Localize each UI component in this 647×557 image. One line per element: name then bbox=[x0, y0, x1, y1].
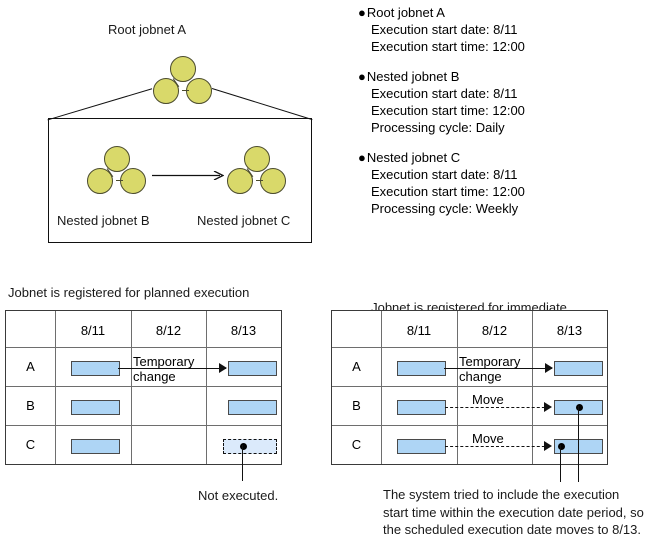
planned-execution-table: 8/11 8/12 8/13 A B C Temporary change bbox=[5, 310, 282, 465]
legend-group-nested-c: ● Nested jobnet C Execution start date: … bbox=[358, 149, 643, 217]
arrow-head-icon bbox=[219, 363, 227, 373]
nested-jobnet-b-cluster bbox=[86, 146, 148, 198]
legend-detail: Execution start time: 12:00 bbox=[358, 102, 643, 119]
row-label-b: B bbox=[6, 398, 55, 413]
column-header-date: 8/13 bbox=[206, 323, 281, 338]
expansion-line-left bbox=[48, 88, 152, 120]
move-line bbox=[445, 446, 550, 447]
schedule-bar bbox=[228, 400, 277, 415]
table-row-divider bbox=[332, 386, 607, 387]
table-row-divider bbox=[6, 347, 281, 348]
execution-point-leader-line-b bbox=[578, 406, 579, 482]
table-row-divider bbox=[332, 425, 607, 426]
column-header-date: 8/11 bbox=[55, 323, 131, 338]
schedule-bar bbox=[554, 361, 603, 376]
arrow-head-icon bbox=[545, 363, 553, 373]
execution-point-leader-line-c bbox=[560, 445, 561, 482]
scheduled-date-move-annotation: The system tried to include the executio… bbox=[383, 486, 647, 539]
arrow-head-icon bbox=[544, 441, 552, 451]
column-header-date: 8/11 bbox=[381, 323, 457, 338]
schedule-bar bbox=[71, 400, 120, 415]
table-row-divider bbox=[6, 386, 281, 387]
jobnet-node-circle bbox=[120, 168, 146, 194]
legend-detail: Processing cycle: Weekly bbox=[358, 200, 643, 217]
arrow-head-icon bbox=[544, 402, 552, 412]
node-connector bbox=[182, 90, 189, 91]
legend-group-nested-b: ● Nested jobnet B Execution start date: … bbox=[358, 68, 643, 136]
column-header-date: 8/12 bbox=[457, 323, 532, 338]
row-label-c: C bbox=[6, 437, 55, 452]
temporary-change-note: Temporary change bbox=[133, 354, 194, 384]
bullet-icon: ● bbox=[358, 68, 366, 85]
schedule-bar bbox=[397, 400, 446, 415]
legend-detail: Execution start date: 8/11 bbox=[358, 166, 643, 183]
table-row-divider bbox=[332, 347, 607, 348]
not-executed-slot bbox=[223, 439, 277, 454]
nested-jobnet-c-cluster bbox=[226, 146, 288, 198]
legend-title: Root jobnet A bbox=[367, 4, 445, 21]
legend-detail: Execution start date: 8/11 bbox=[358, 85, 643, 102]
column-header-date: 8/13 bbox=[532, 323, 607, 338]
legend-title: Nested jobnet B bbox=[367, 68, 460, 85]
table-row-divider bbox=[6, 425, 281, 426]
jobnet-node-circle bbox=[260, 168, 286, 194]
jobnet-properties-legend: ● Root jobnet A Execution start date: 8/… bbox=[358, 4, 643, 230]
move-note: Move bbox=[472, 431, 504, 446]
legend-title: Nested jobnet C bbox=[367, 149, 460, 166]
not-executed-annotation: Not executed. bbox=[198, 488, 278, 504]
row-label-c: C bbox=[332, 437, 381, 452]
nested-jobnet-c-label: Nested jobnet C bbox=[197, 213, 290, 229]
legend-group-root-a: ● Root jobnet A Execution start date: 8/… bbox=[358, 4, 643, 55]
b-to-c-arrow bbox=[152, 171, 224, 180]
schedule-bar bbox=[397, 439, 446, 454]
schedule-bar bbox=[71, 439, 120, 454]
row-label-a: A bbox=[6, 359, 55, 374]
left-table-caption: Jobnet is registered for planned executi… bbox=[8, 285, 249, 301]
root-jobnet-title: Root jobnet A bbox=[108, 22, 186, 38]
column-header-date: 8/12 bbox=[131, 323, 206, 338]
node-connector bbox=[256, 180, 263, 181]
root-jobnet-node-cluster bbox=[152, 56, 214, 108]
legend-detail: Execution start time: 12:00 bbox=[358, 183, 643, 200]
nested-jobnet-b-label: Nested jobnet B bbox=[57, 213, 150, 229]
bullet-icon: ● bbox=[358, 4, 366, 21]
immediate-execution-table: 8/11 8/12 8/13 A B C Temporary change Mo… bbox=[331, 310, 608, 465]
move-note: Move bbox=[472, 392, 504, 407]
schedule-bar bbox=[228, 361, 277, 376]
legend-detail: Execution start time: 12:00 bbox=[358, 38, 643, 55]
move-line bbox=[445, 407, 550, 408]
schedule-bar bbox=[397, 361, 446, 376]
legend-detail: Execution start date: 8/11 bbox=[358, 21, 643, 38]
legend-detail: Processing cycle: Daily bbox=[358, 119, 643, 136]
row-label-a: A bbox=[332, 359, 381, 374]
expansion-line-right bbox=[212, 88, 312, 120]
row-label-b: B bbox=[332, 398, 381, 413]
temporary-change-note: Temporary change bbox=[459, 354, 520, 384]
jobnet-node-circle bbox=[186, 78, 212, 104]
not-executed-leader-line bbox=[242, 445, 243, 481]
jobnet-structure-diagram: Root jobnet A Nested jobnet B Nested job… bbox=[0, 0, 330, 262]
schedule-bar bbox=[71, 361, 120, 376]
node-connector bbox=[116, 180, 123, 181]
bullet-icon: ● bbox=[358, 149, 366, 166]
